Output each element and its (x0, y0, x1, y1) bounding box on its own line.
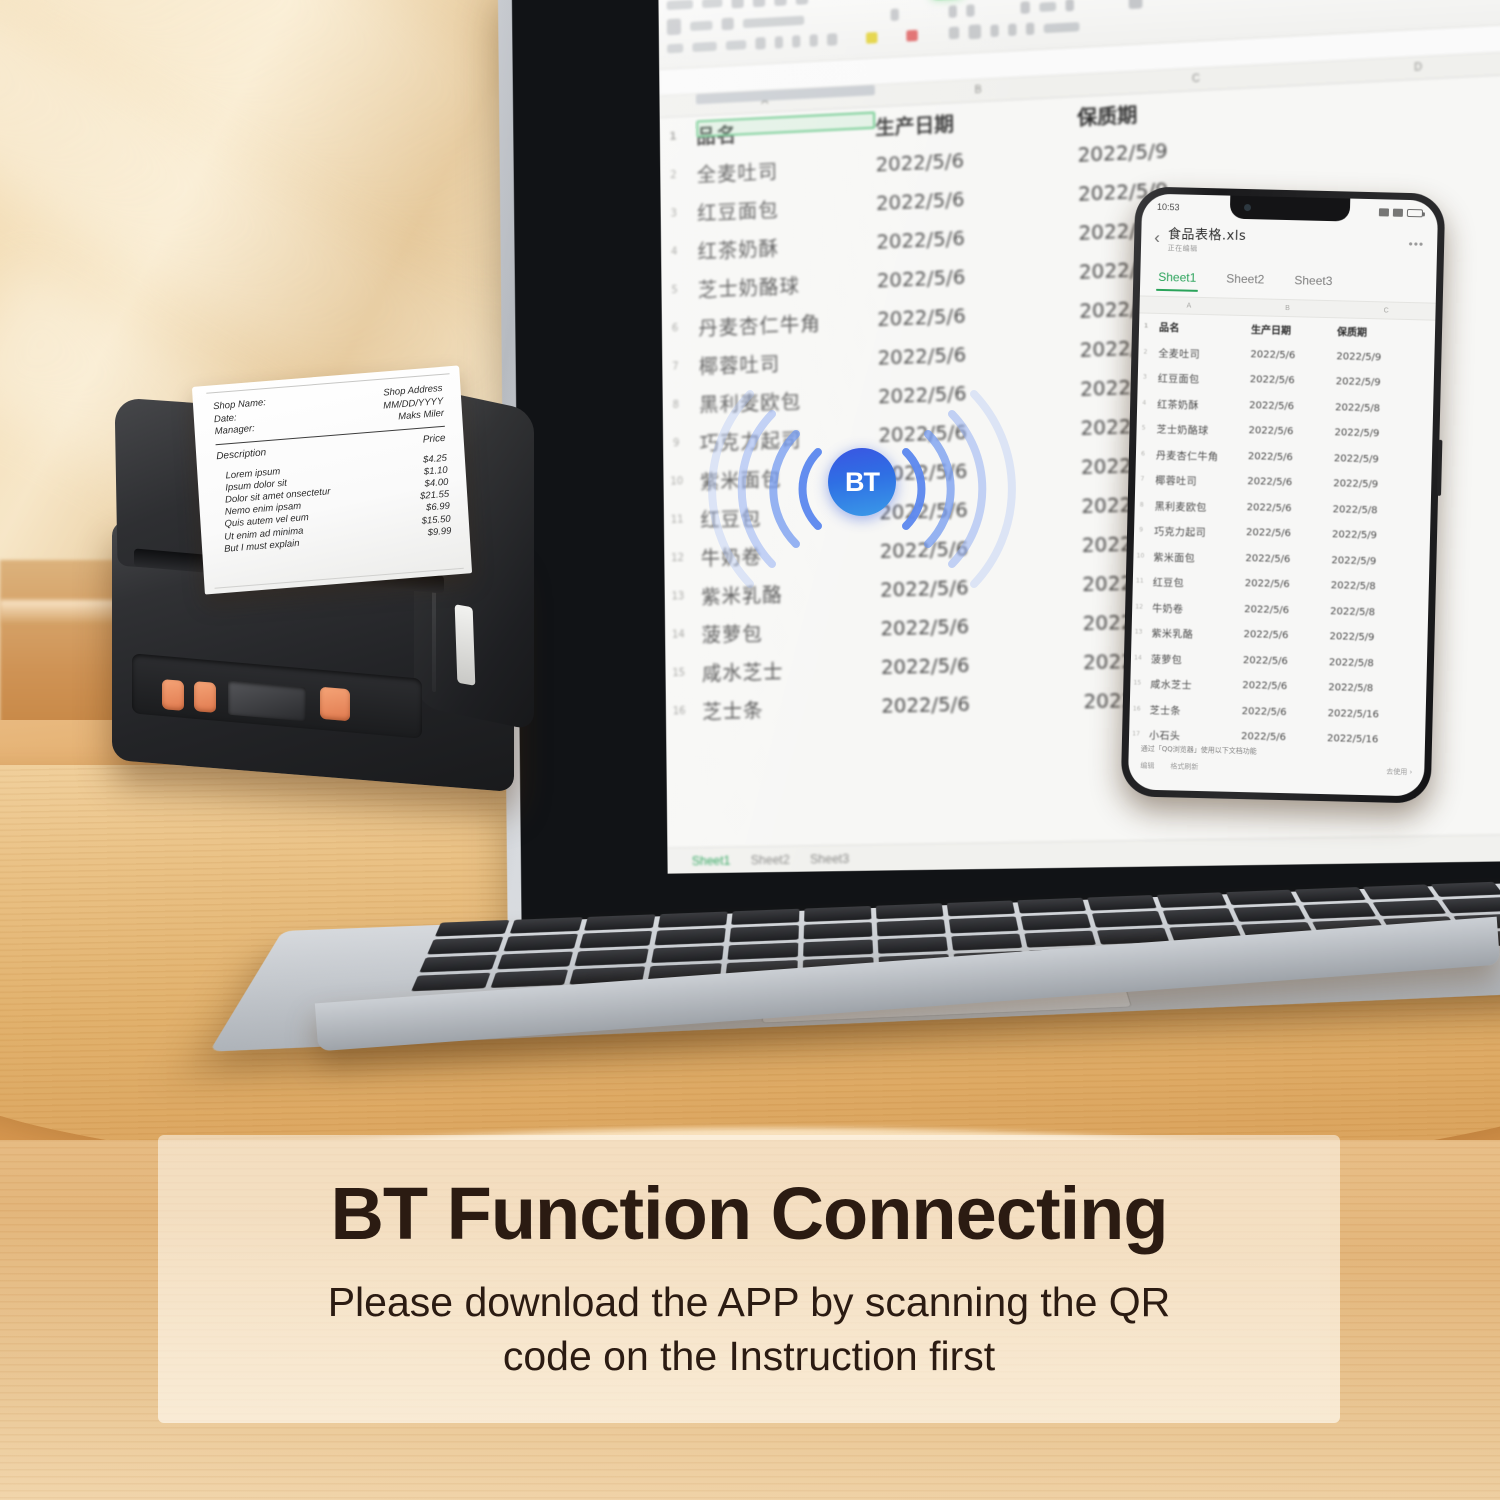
ribbon-icon[interactable] (753, 0, 765, 7)
ribbon-icon[interactable] (891, 8, 899, 21)
strikethrough-icon[interactable] (810, 34, 818, 47)
ribbon-icon[interactable] (990, 24, 998, 37)
keyboard-key[interactable] (574, 948, 648, 966)
keyboard-key[interactable] (1024, 930, 1096, 947)
keyboard-key[interactable] (1157, 892, 1227, 908)
keyboard-key[interactable] (731, 909, 799, 925)
cell-made-date[interactable]: 2022/5/6 (1248, 451, 1334, 464)
keyboard-key[interactable] (949, 917, 1019, 934)
cell-made-date[interactable]: 2022/5/6 (1250, 349, 1336, 362)
row-number: 1 (1139, 323, 1153, 330)
ribbon-chip (690, 20, 712, 30)
row-number: 8 (663, 399, 689, 411)
keyboard-key[interactable] (655, 928, 726, 945)
front-camera-icon (1244, 204, 1251, 211)
ribbon-chip (726, 40, 746, 50)
receipt-item-price: $9.99 (427, 525, 451, 539)
paste-icon[interactable] (667, 18, 681, 35)
printer-power-button[interactable] (320, 687, 350, 722)
keyboard-key[interactable] (951, 933, 1022, 950)
header-cell-made: 生产日期 (1251, 321, 1337, 338)
row-number: 16 (666, 705, 692, 717)
receipt-manager-value: Maks Miler (398, 408, 445, 424)
keyboard-key[interactable] (727, 942, 798, 960)
ribbon-icon[interactable] (966, 4, 974, 17)
phone-screen[interactable]: 10:53 ‹ 食品表格.xls 正在编辑 ••• Sheet1 Sheet2 … (1128, 193, 1438, 796)
ribbon-icon[interactable] (949, 27, 960, 40)
cell-name[interactable]: 红豆面包 (687, 190, 876, 226)
phone-spreadsheet-grid[interactable]: 1 品名 生产日期 保质期 2全麦吐司2022/5/62022/5/93红豆面包… (1129, 313, 1435, 742)
caption-subtitle: Please download the APP by scanning the … (328, 1275, 1171, 1383)
ribbon-icon[interactable] (774, 0, 786, 6)
receipt-manager-label: Manager: (214, 423, 255, 439)
row-number: 15 (665, 667, 691, 679)
cell-made-date[interactable]: 2022/5/6 (881, 653, 1048, 679)
keyboard-key[interactable] (1303, 903, 1376, 919)
font-color-icon[interactable] (906, 29, 918, 41)
row-number: 16 (1130, 705, 1144, 712)
ribbon-icon[interactable] (1026, 22, 1035, 35)
phone-nav-bar: ‹ 食品表格.xls 正在编辑 ••• (1141, 217, 1438, 264)
cell-expire-date[interactable]: 2022/5/9 (1333, 478, 1419, 491)
keyboard-key[interactable] (1442, 897, 1500, 913)
cell-made-date[interactable]: 2022/5/6 (1250, 374, 1336, 387)
row-number: 4 (661, 245, 687, 257)
keyboard-key[interactable] (877, 919, 946, 936)
keyboard-key[interactable] (1226, 890, 1297, 906)
cell-name[interactable]: 菠萝包 (691, 616, 880, 648)
cell-name[interactable]: 全麦吐司 (1152, 345, 1250, 362)
cell-made-date[interactable]: 2022/5/6 (1246, 527, 1332, 540)
cell-expire-date[interactable]: 2022/5/8 (1329, 657, 1415, 670)
keyboard-key[interactable] (510, 917, 583, 934)
row-number: 8 (1135, 501, 1149, 508)
ribbon-icon[interactable] (731, 0, 743, 8)
keyboard-key[interactable] (1363, 884, 1435, 899)
cell-expire-date[interactable]: 2022/5/9 (1042, 137, 1232, 169)
header-cell-made: 生产日期 (875, 105, 1042, 141)
keyboard-key[interactable] (1373, 900, 1447, 916)
receipt-header: Shop Name: Shop Address Date: MM/DD/YYYY… (213, 383, 445, 439)
keyboard-key[interactable] (584, 914, 655, 931)
ribbon-icon[interactable] (1008, 23, 1016, 36)
ribbon-chip (1044, 22, 1080, 33)
battery-icon (1407, 209, 1423, 217)
status-icons (1379, 208, 1423, 217)
keyboard-key[interactable] (1017, 898, 1086, 914)
header-cell-expire: 保质期 (1041, 95, 1232, 132)
row-number: 10 (1133, 552, 1147, 559)
keyboard-key[interactable] (1233, 905, 1305, 921)
cell-made-date[interactable]: 2022/5/6 (1242, 706, 1328, 719)
row-number: 3 (1138, 374, 1152, 381)
row-number: 13 (665, 590, 691, 602)
row-number: 6 (662, 322, 688, 334)
keyboard-key[interactable] (411, 973, 490, 992)
row-number: 7 (1135, 476, 1149, 483)
font-icon[interactable] (722, 17, 734, 30)
cell-made-date[interactable]: 2022/5/6 (880, 614, 1047, 641)
ribbon-chip (667, 43, 683, 53)
keyboard-key[interactable] (651, 945, 724, 963)
keyboard-key[interactable] (1431, 882, 1500, 897)
wifi-icon (1379, 208, 1389, 216)
cell-name[interactable]: 芝士条 (692, 693, 881, 725)
keyboard-key[interactable] (1295, 887, 1367, 903)
wave-right-2 (928, 434, 951, 544)
keyboard-key[interactable] (1163, 908, 1235, 924)
cell-made-date[interactable]: 2022/5/6 (1243, 655, 1329, 668)
phone-rows[interactable]: 2全麦吐司2022/5/62022/5/93红豆面包2022/5/62022/5… (1129, 339, 1435, 754)
cell-made-date[interactable]: 2022/5/6 (881, 692, 1048, 718)
column-letter[interactable]: C (1337, 306, 1436, 315)
keyboard-key[interactable] (804, 906, 871, 922)
wave-left-3 (742, 414, 772, 564)
ribbon-chip (1039, 1, 1056, 11)
cell-expire-date[interactable]: 2022/5/9 (1329, 631, 1415, 644)
row-number: 11 (1133, 578, 1147, 585)
row-number: 12 (664, 552, 690, 564)
cell-made-date[interactable]: 2022/5/6 (1245, 578, 1331, 591)
cell-made-date[interactable]: 2022/5/6 (1247, 502, 1333, 515)
wave-left-1 (803, 452, 818, 526)
cell-name[interactable]: 巧克力起司 (1148, 523, 1246, 540)
cell-expire-date[interactable]: 2022/5/16 (1328, 708, 1414, 721)
keyboard-key[interactable] (1021, 914, 1091, 931)
cell-expire-date[interactable]: 2022/5/8 (1328, 682, 1414, 695)
cell-expire-date[interactable]: 2022/5/8 (1330, 606, 1416, 619)
row-number: 7 (662, 360, 688, 372)
keyboard-key[interactable] (804, 922, 873, 939)
keyboard-key[interactable] (658, 912, 728, 928)
sheet-tab-1[interactable]: Sheet1 (692, 853, 731, 868)
row-number: 9 (663, 437, 689, 449)
ribbon-icon[interactable] (1129, 0, 1143, 9)
ribbon-icon[interactable] (1065, 0, 1074, 12)
cell-name[interactable]: 全麦吐司 (686, 152, 875, 188)
bluetooth-badge: BT (828, 448, 896, 516)
cell-made-date[interactable]: 2022/5/6 (1249, 400, 1335, 413)
cell-made-date[interactable]: 2022/5/6 (1244, 604, 1330, 617)
status-time: 10:53 (1157, 202, 1180, 213)
document-title-text: 食品表格.xls (1168, 227, 1247, 244)
row-number: 5 (661, 284, 687, 296)
font-name-field[interactable] (743, 15, 804, 27)
caption-subtitle-line1: Please download the APP by scanning the … (328, 1275, 1171, 1329)
header-cell-name: 品名 (1153, 319, 1251, 336)
cell-made-date[interactable]: 2022/5/6 (877, 302, 1044, 331)
cell-expire-date[interactable]: 2022/5/8 (1335, 402, 1421, 415)
cell-name[interactable]: 芝士条 (1144, 701, 1242, 718)
cell-name[interactable]: 牛奶卷 (1146, 599, 1244, 616)
row-number: 2 (1138, 348, 1152, 355)
cell-made-date[interactable]: 2022/5/6 (1247, 476, 1333, 489)
row-number: 4 (1137, 399, 1151, 406)
cell-name[interactable]: 红茶奶酥 (687, 229, 876, 265)
footer-actions[interactable]: 编辑 格式刷新 去使用 › (1140, 761, 1412, 778)
keyboard-key[interactable] (1092, 911, 1163, 927)
keyboard-key[interactable] (803, 939, 873, 957)
cell-name[interactable]: 咸水芝士 (692, 654, 881, 686)
row-number: 9 (1134, 527, 1148, 534)
cell-name[interactable]: 红豆面包 (1152, 370, 1250, 387)
printer-button-2[interactable] (194, 681, 216, 713)
printer-lcd-display (228, 681, 306, 722)
cell-made-date[interactable]: 2022/5/6 (1248, 425, 1334, 438)
row-number: 11 (664, 514, 690, 526)
cell-name[interactable]: 红茶奶酥 (1151, 396, 1249, 413)
keyboard-key[interactable] (878, 936, 948, 953)
smartphone: 10:53 ‹ 食品表格.xls 正在编辑 ••• Sheet1 Sheet2 … (1121, 186, 1446, 803)
keyboard-key[interactable] (419, 954, 497, 972)
cell-made-date[interactable]: 2022/5/6 (1242, 680, 1328, 693)
row-number: 3 (661, 207, 687, 219)
merge-cells-icon[interactable] (969, 24, 982, 39)
keyboard-key[interactable] (579, 931, 652, 948)
keyboard-key[interactable] (729, 925, 799, 942)
signal-icon (1393, 209, 1403, 217)
cell-name[interactable]: 丹麦杏仁牛角 (688, 306, 877, 341)
cell-expire-date[interactable]: 2022/5/9 (1336, 377, 1422, 390)
document-subtitle: 正在编辑 (1168, 243, 1246, 255)
keyboard-key[interactable] (435, 920, 510, 937)
cell-name[interactable]: 黑利麦欧包 (1149, 497, 1247, 514)
bluetooth-thermal-printer: Shop Name: Shop Address Date: MM/DD/YYYY… (98, 388, 588, 808)
receipt-col-description: Description (216, 447, 267, 462)
bluetooth-badge-label: BT (845, 467, 879, 498)
cell-name[interactable]: 椰蓉吐司 (688, 345, 877, 380)
caption-overlay: BT Function Connecting Please download t… (158, 1135, 1340, 1423)
cell-expire-date[interactable]: 2022/5/9 (1332, 529, 1418, 542)
bluetooth-signal-graphic: BT (700, 378, 1020, 600)
cell-made-date[interactable]: 2022/5/6 (876, 146, 1043, 176)
keyboard-key[interactable] (876, 903, 944, 919)
receipt-line-items: Lorem ipsum$4.25Ipsum dolor sit$1.10Dolo… (217, 452, 452, 556)
keyboard-key[interactable] (497, 951, 573, 969)
cell-name[interactable]: 紫米乳酪 (1145, 625, 1243, 642)
footer-note: 通过「QQ浏览器」使用以下文档功能 (1141, 744, 1413, 761)
row-number: 13 (1132, 629, 1146, 636)
bold-icon[interactable] (755, 37, 765, 50)
cell-name[interactable]: 芝士奶酪球 (688, 268, 877, 303)
column-letter[interactable]: A (1140, 301, 1239, 310)
printer-button-1[interactable] (162, 679, 184, 711)
wave-right-1 (906, 452, 921, 526)
row-number: 14 (665, 629, 691, 641)
cell-name[interactable]: 芝士奶酪球 (1150, 421, 1248, 438)
ribbon-chip (667, 0, 693, 10)
sheet-tab-2[interactable]: Sheet2 (751, 852, 790, 867)
caption-title: BT Function Connecting (330, 1175, 1167, 1253)
italic-icon[interactable] (775, 36, 783, 49)
cell-made-date[interactable]: 2022/5/6 (1245, 553, 1331, 566)
phone-sheet-tab-3[interactable]: Sheet3 (1294, 273, 1332, 288)
ribbon-icon[interactable] (949, 5, 957, 18)
keyboard-key[interactable] (504, 934, 578, 951)
chevron-left-icon[interactable]: ‹ (1154, 228, 1160, 248)
row-number: 5 (1137, 425, 1151, 432)
cell-name[interactable]: 椰蓉吐司 (1149, 472, 1247, 489)
receipt-col-price: Price (422, 432, 445, 445)
phone-notch (1230, 196, 1351, 222)
phone-sheet-tab-1[interactable]: Sheet1 (1158, 270, 1196, 285)
sheet-tab-3[interactable]: Sheet3 (810, 851, 849, 866)
more-options-icon[interactable]: ••• (1408, 237, 1424, 251)
ribbon-chip (702, 0, 722, 8)
footer-use-link[interactable]: 去使用 › (1386, 767, 1412, 778)
footer-action-edit[interactable]: 编辑 (1140, 761, 1154, 771)
cell-expire-date[interactable]: 2022/5/9 (1334, 427, 1420, 440)
cell-expire-date[interactable]: 2022/5/8 (1331, 580, 1417, 593)
printer-side-strip (455, 604, 476, 686)
cell-name[interactable]: 菠萝包 (1145, 650, 1243, 667)
printed-receipt: Shop Name: Shop Address Date: MM/DD/YYYY… (192, 365, 472, 594)
cell-made-date[interactable]: 2022/5/6 (876, 224, 1043, 254)
column-letter[interactable]: B (1238, 303, 1337, 312)
cell-expire-date[interactable]: 2022/5/9 (1334, 453, 1420, 466)
cell-expire-date[interactable]: 2022/5/8 (1333, 504, 1419, 517)
keyboard-key[interactable] (947, 900, 1015, 916)
cell-expire-date[interactable]: 2022/5/9 (1331, 555, 1417, 568)
highlight-color-icon[interactable] (866, 31, 877, 43)
cell-made-date[interactable]: 2022/5/6 (1243, 629, 1329, 642)
document-title: 食品表格.xls 正在编辑 (1168, 223, 1247, 255)
cell-name[interactable]: 红豆包 (1147, 574, 1245, 591)
wave-left-2 (773, 434, 796, 544)
row-number: 2 (660, 169, 686, 181)
border-icon[interactable] (827, 33, 837, 46)
cell-made-date[interactable]: 2022/5/6 (877, 263, 1044, 293)
ribbon-icon[interactable] (1020, 1, 1030, 14)
header-cell-expire: 保质期 (1337, 324, 1423, 341)
phone-sheet-tabs[interactable]: Sheet1 Sheet2 Sheet3 (1140, 259, 1437, 300)
row-number: 12 (1132, 603, 1146, 610)
underline-icon[interactable] (792, 35, 800, 48)
ribbon-chip (692, 41, 716, 51)
cell-made-date[interactable]: 2022/5/6 (876, 185, 1043, 215)
cell-made-date[interactable]: 2022/5/6 (878, 341, 1045, 370)
cell-name[interactable]: 丹麦杏仁牛角 (1150, 446, 1248, 463)
footer-action-format[interactable]: 格式刷新 (1170, 761, 1198, 772)
keyboard-key[interactable] (1087, 895, 1157, 911)
keyboard-key[interactable] (427, 937, 503, 954)
wave-right-3 (952, 414, 982, 564)
row-number: 6 (1136, 450, 1150, 457)
phone-sheet-tab-2[interactable]: Sheet2 (1226, 272, 1264, 287)
product-marketing-scene: A B C D 1 品名 生产日期 保质期 2全麦吐司2022/5/62 (0, 0, 1500, 1500)
row-number: 14 (1131, 654, 1145, 661)
row-number: 1 (660, 131, 686, 143)
caption-subtitle-line2: code on the Instruction first (328, 1329, 1171, 1383)
row-number: 15 (1130, 680, 1144, 687)
cell-name[interactable]: 紫米面包 (1147, 548, 1245, 565)
cell-expire-date[interactable]: 2022/5/9 (1336, 351, 1422, 364)
phone-footer-bar: 通过「QQ浏览器」使用以下文档功能 编辑 格式刷新 去使用 › (1128, 735, 1425, 796)
ribbon-icon[interactable] (796, 0, 808, 4)
cell-name[interactable]: 咸水芝士 (1144, 676, 1242, 693)
row-number: 10 (663, 475, 689, 487)
